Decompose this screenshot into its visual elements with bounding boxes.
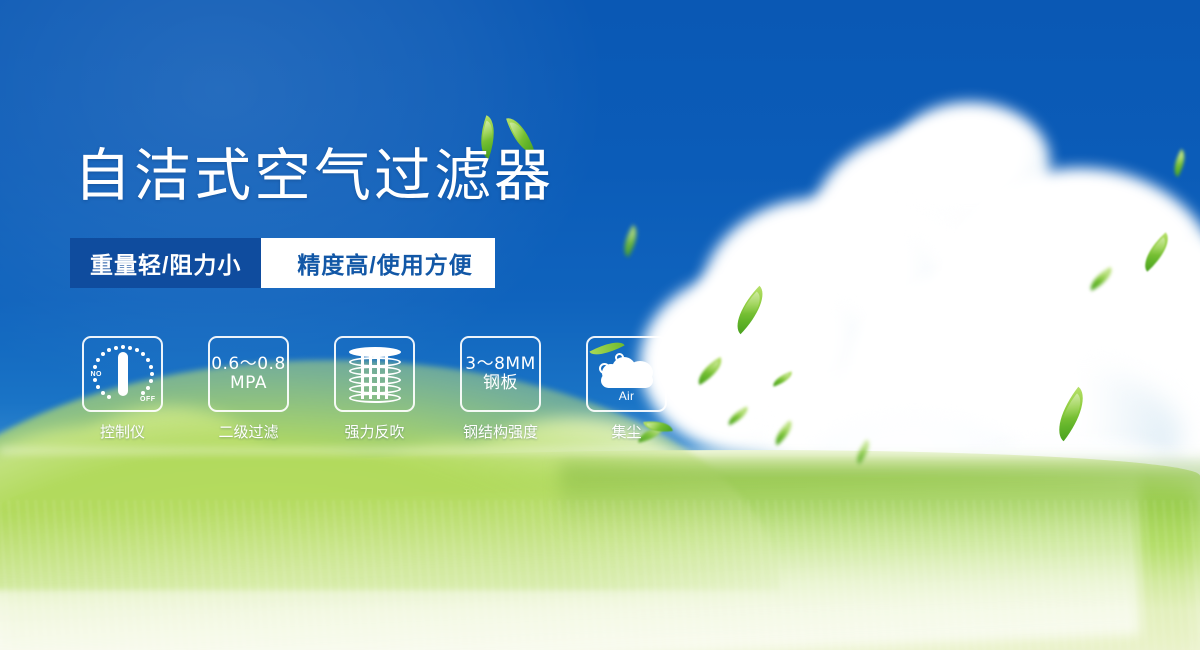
- feature-label: 强力反吹: [344, 421, 404, 442]
- feature-icon-box: 0.6～0.8 MPA: [208, 336, 289, 412]
- subtitle-divider: [261, 238, 291, 288]
- feature-icon-box: [334, 336, 415, 412]
- dial-pointer: [118, 352, 128, 396]
- subtitle-left-segment: 重量轻/阻力小: [70, 238, 261, 288]
- feature-item-control[interactable]: NO OFF 控制仪: [82, 336, 163, 442]
- subtitle-bar: 重量轻/阻力小 精度高/使用方便: [70, 238, 495, 288]
- feature-list: NO OFF 控制仪 0.6～0.8 MPA 二级过滤: [82, 336, 667, 442]
- dial-off-label: OFF: [140, 396, 156, 403]
- banner-stage: 自洁式空气过滤器 重量轻/阻力小 精度高/使用方便: [0, 0, 1200, 650]
- feature-label: 集尘: [611, 421, 641, 442]
- feature-icon-box: NO OFF: [82, 336, 163, 412]
- air-label: Air: [596, 389, 658, 403]
- feature-icon-box: Air: [586, 336, 667, 412]
- grass-field: [0, 450, 1200, 650]
- subtitle-right-segment: 精度高/使用方便: [291, 238, 494, 288]
- filter-cartridge-icon: [349, 345, 401, 403]
- horizon-line: [0, 444, 1200, 454]
- pressure-unit: MPA: [211, 374, 286, 393]
- dial-on-label: NO: [91, 371, 103, 378]
- feature-label: 钢结构强度: [463, 421, 538, 442]
- pressure-value: 0.6～0.8: [211, 355, 286, 374]
- control-dial-icon: NO OFF: [92, 344, 154, 404]
- steel-plate-text-icon: 3～8MM 钢板: [465, 355, 535, 393]
- steel-material: 钢板: [465, 374, 535, 393]
- feature-label: 二级过滤: [218, 421, 278, 442]
- air-cloud-icon: Air: [596, 347, 658, 401]
- steel-thickness: 3～8MM: [465, 355, 535, 374]
- feature-label: 控制仪: [100, 421, 145, 442]
- feature-item-steel[interactable]: 3～8MM 钢板 钢结构强度: [460, 336, 541, 442]
- page-title: 自洁式空气过滤器: [74, 148, 554, 205]
- pressure-text-icon: 0.6～0.8 MPA: [211, 355, 286, 393]
- feature-icon-box: 3～8MM 钢板: [460, 336, 541, 412]
- feature-item-backblow[interactable]: 强力反吹: [334, 336, 415, 442]
- feature-item-filtration[interactable]: 0.6～0.8 MPA 二级过滤: [208, 336, 289, 442]
